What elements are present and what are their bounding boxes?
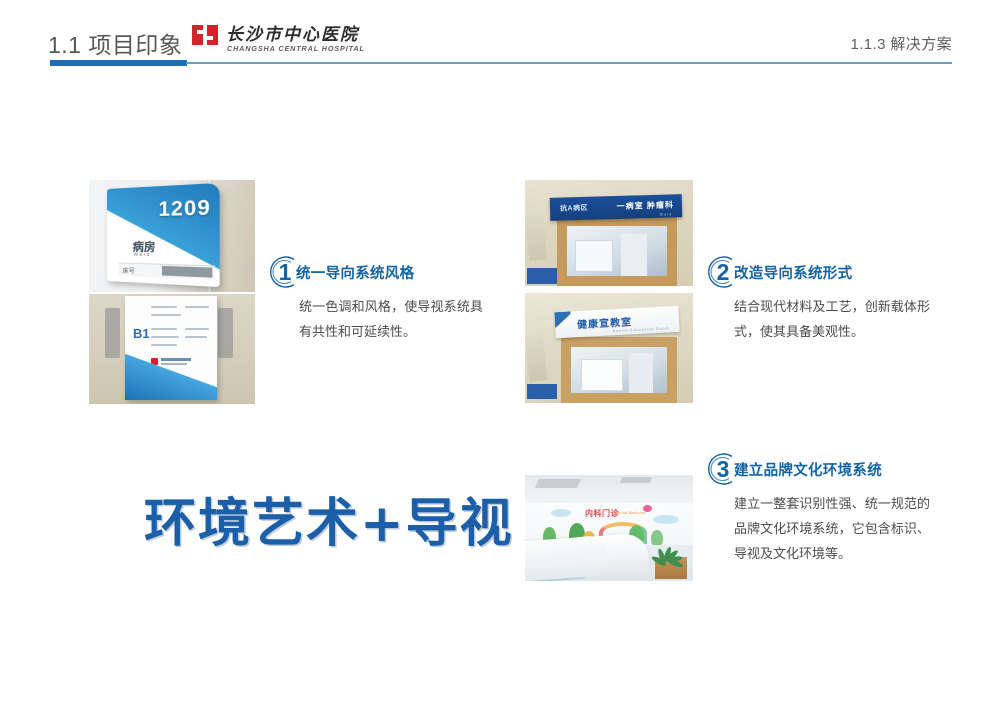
photo-door-sign-left-text: 抗A病区 <box>560 203 588 214</box>
photo-floor-directory: B1 <box>89 294 255 404</box>
photo-b1-text-line <box>185 336 207 338</box>
photo-b1-wall-panel-left <box>105 308 120 358</box>
photo-edu-notice-sheet <box>629 353 653 393</box>
feature-item-1-head: 1 统一导向系统风格 <box>268 255 486 289</box>
photo-b1-logo-text <box>161 358 191 361</box>
hero-title: 环境艺术+导视 <box>144 481 514 556</box>
photo-door-sign-english: Ward <box>660 212 673 216</box>
hospital-logo: 长沙市中心医院 CHANGSHA CENTRAL HOSPITAL <box>190 20 350 62</box>
photo-b1-text-line <box>185 306 209 308</box>
feature-item-3-body: 建立一整套识别性强、统一规范的品牌文化环境系统，它包含标识、导视及文化环境等。 <box>734 491 930 566</box>
hospital-logo-chinese: 长沙市中心医院 <box>226 20 359 45</box>
header-accent-bar <box>50 60 187 66</box>
page-header: 1.1 项目印象 1.1.3 解决方案 长沙市中心医院 CHANGSHA CEN… <box>0 0 1000 80</box>
photo-ward-bed-insert <box>162 266 212 278</box>
photo-b1-text-line <box>151 336 179 338</box>
photo-b1-text-line <box>185 328 209 330</box>
photo-ward-room-number: 1209 <box>158 197 211 222</box>
photo-lobby-mural-cloud <box>653 515 679 524</box>
photo-edu-door-frame <box>561 337 677 403</box>
photo-ward-sign-panel: 1209 病房 Ward 床号 <box>107 183 220 287</box>
feature-item-2-head: 2 改造导向系统形式 <box>706 255 944 289</box>
photo-door-glass <box>567 226 667 276</box>
photo-door-notice-sheet <box>621 234 647 276</box>
photo-ward-door-sign: 抗A病区 一病室 肿瘤科 Ward <box>525 180 693 286</box>
photo-lobby-mural-cloud <box>551 509 571 517</box>
feature-item-2: 2 改造导向系统形式 结合现代材料及工艺，创新载体形式，使其具备美观性。 <box>706 255 944 344</box>
photo-b1-text-line <box>151 306 177 308</box>
photo-ward-room-sign: 1209 病房 Ward 床号 <box>89 180 255 292</box>
photo-b1-logo-subtext <box>161 363 187 365</box>
hospital-logo-mark-icon <box>190 22 220 48</box>
photo-lobby-mural-subtitle: Internal Medicine <box>613 511 646 515</box>
photo-ward-bed-label: 床号 <box>123 266 135 276</box>
section-label: 1.1.3 解决方案 <box>850 33 952 54</box>
feature-item-1-title: 统一导向系统风格 <box>296 262 414 283</box>
photo-b1-wall-panel-right <box>218 308 233 358</box>
feature-item-3-head: 3 建立品牌文化环境系统 <box>706 452 956 486</box>
photo-b1-level-label: B1 <box>133 326 150 341</box>
photo-b1-text-line <box>151 328 177 330</box>
feature-item-3-title: 建立品牌文化环境系统 <box>734 459 882 480</box>
photo-edu-notice-sheet <box>581 359 623 391</box>
photo-lobby-ceiling <box>525 475 693 505</box>
photo-door-sign-chinese: 一病室 肿瘤科 <box>617 199 675 212</box>
photo-edu-wall-plate <box>527 384 557 399</box>
photo-door-notice-sheet <box>575 240 613 272</box>
hospital-logo-english: CHANGSHA CENTRAL HOSPITAL <box>227 44 365 53</box>
header-divider-line <box>186 62 952 64</box>
feature-item-1: 1 统一导向系统风格 统一色调和风格，使导视系统具有共性和可延续性。 <box>268 255 486 344</box>
photo-lobby-ceiling-vent <box>535 479 581 488</box>
feature-item-1-body: 统一色调和风格，使导视系统具有共性和可延续性。 <box>299 294 483 344</box>
photo-b1-logo-mark-icon <box>151 358 158 365</box>
photo-door-frame <box>557 216 677 286</box>
feature-item-2-body: 结合现代材料及工艺，创新载体形式，使其具备美观性。 <box>734 294 930 344</box>
photo-education-room-sign: 健康宣教室 Health Education Room <box>525 293 693 403</box>
photo-ward-sign-english: Ward <box>134 252 151 258</box>
photo-b1-text-line <box>151 314 181 316</box>
photo-lobby-plant <box>647 527 691 563</box>
photo-ward-bed-strip: 床号 <box>119 262 215 280</box>
feature-item-3: 3 建立品牌文化环境系统 建立一整套识别性强、统一规范的品牌文化环境系统，它包含… <box>706 452 956 566</box>
page-title: 1.1 项目印象 <box>48 26 182 60</box>
photo-lobby-ceiling-vent <box>620 477 653 483</box>
photo-edu-glass <box>571 347 667 393</box>
photo-door-wall-plate <box>527 268 557 284</box>
photo-b1-directory-board: B1 <box>125 296 217 400</box>
photo-b1-hospital-logo <box>151 358 191 366</box>
photo-clinic-lobby: 内科门诊 Internal Medicine <box>525 475 693 581</box>
feature-item-2-title: 改造导向系统形式 <box>734 262 852 283</box>
photo-b1-text-line <box>151 344 177 346</box>
photo-door-blue-sign: 抗A病区 一病室 肿瘤科 Ward <box>550 194 683 221</box>
